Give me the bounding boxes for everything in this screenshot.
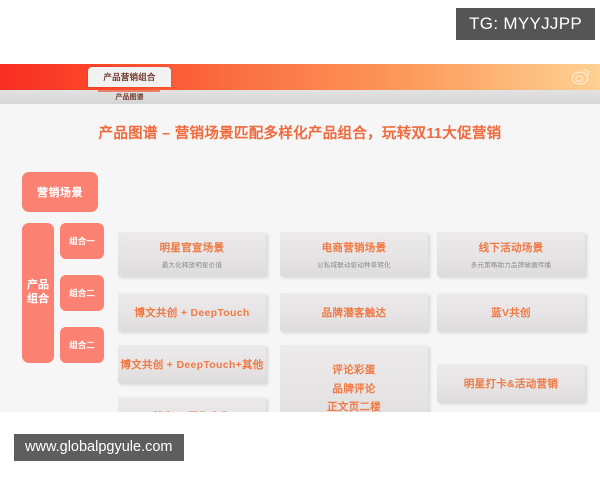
combo-card-line-3: 正文页二楼 [327,398,381,412]
combo-card-celebrity-checkin-event: 明星打卡&活动营销 [437,364,585,402]
combo-card-title: 粉条 + 原生广告 [153,409,231,413]
presentation-slide: 产品营销组合 产品图谱 产品图谱 – 营销场景匹配多样化产品组合，玩转双11大促… [0,64,600,412]
telegram-watermark-badge: TG: MYYJJPP [456,8,595,40]
combo-tag-1: 组合一 [60,223,104,259]
rail-label-product-combination: 产品组合 [22,223,54,363]
browser-tab-label: 产品营销组合 [103,71,155,83]
combo-tag-2: 组合二 [60,275,104,311]
combo-card-line-1: 评论彩蛋 [332,361,375,379]
combo-card-fentiao-native-ads: 粉条 + 原生广告 [118,397,266,412]
scenario-card-subtitle: 公私域联动驱动种草转化 [317,259,391,269]
scenario-card-subtitle: 多元策略助力品牌破圈传播 [471,259,551,269]
scenario-card-subtitle: 最大化释放明星价值 [162,259,222,269]
combo-card-title: 明星打卡&活动营销 [464,376,558,391]
diagram-board: 营销场景 产品组合 组合一 组合二 组合二 明星官宣场景 最大化释放明星价值 电… [0,159,600,409]
combo-card-title: 博文共创 + DeepTouch [134,305,249,320]
combo-card-blog-deeptouch-other: 博文共创 + DeepTouch+其他 [118,345,266,383]
scenario-card-offline-event: 线下活动场景 多元策略助力品牌破圈传播 [437,232,585,276]
scenario-card-title: 线下活动场景 [479,240,544,255]
combo-card-brand-prospect-reach: 品牌潜客触达 [280,293,428,331]
combo-card-blue-v-cocreation: 蓝V共创 [437,293,585,331]
combo-card-line-2: 品牌评论 [332,380,375,398]
combo-card-blog-deeptouch: 博文共创 + DeepTouch [118,293,266,331]
combo-card-title: 品牌潜客触达 [322,305,387,320]
combo-tag-3: 组合二 [60,327,104,363]
scenario-card-celebrity: 明星官宣场景 最大化释放明星价值 [118,232,266,276]
combo-card-title: 博文共创 + DeepTouch+其他 [120,357,263,372]
scenario-card-ecommerce: 电商营销场景 公私域联动驱动种草转化 [280,232,428,276]
sub-tab-product-map[interactable]: 产品图谱 [88,92,171,102]
slide-title: 产品图谱 – 营销场景匹配多样化产品组合，玩转双11大促营销 [0,122,600,143]
browser-tab-product-marketing[interactable]: 产品营销组合 [88,67,171,87]
weibo-eye-icon [571,68,590,87]
scenario-card-title: 电商营销场景 [322,240,387,255]
site-watermark-badge: www.globalpgyule.com [14,434,184,462]
rail-label-marketing-scenarios: 营销场景 [22,172,98,212]
scenario-card-title: 明星官宣场景 [160,240,225,255]
combo-card-comment-features: 评论彩蛋 品牌评论 正文页二楼 [280,345,428,412]
combo-card-title: 蓝V共创 [491,305,531,320]
